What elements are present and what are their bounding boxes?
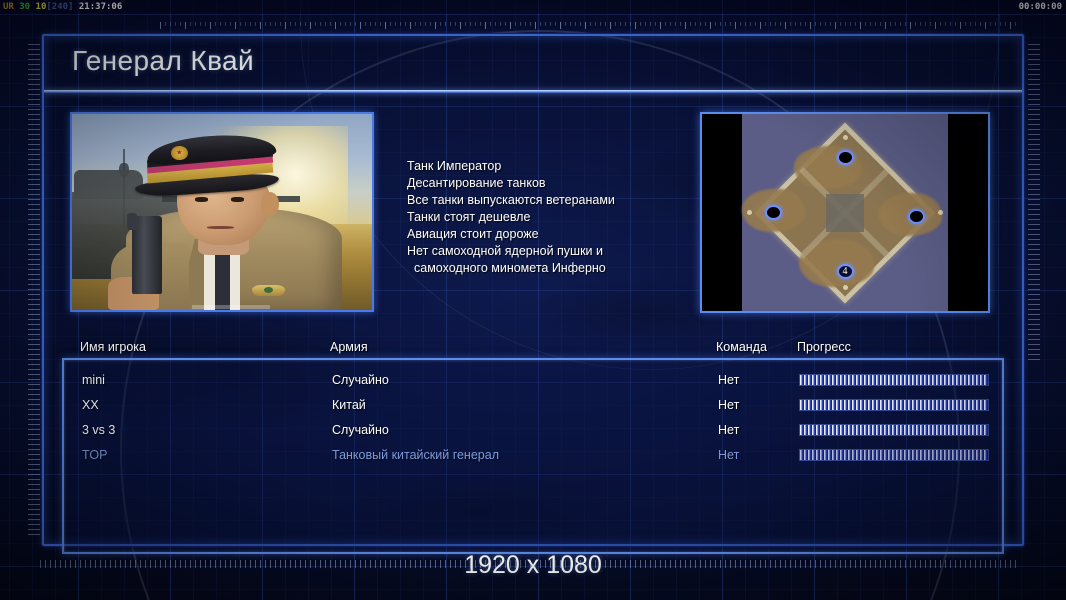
general-portrait — [70, 112, 374, 312]
overlay-timer: 00:00:00 — [1019, 1, 1062, 13]
overlay-status-bar: UR 30 10[240] 21:37:06 00:00:00 — [0, 0, 1066, 14]
ability-line: Танк Император — [407, 158, 697, 175]
cell-team[interactable]: Нет — [718, 443, 739, 468]
cap-star-icon — [171, 146, 188, 160]
cell-player-name: TOP — [82, 443, 107, 468]
fps-prefix: UR — [3, 2, 14, 12]
ability-line: Десантирование танков — [407, 175, 697, 192]
resolution-label: 1920 x 1080 — [0, 551, 1066, 580]
map-start-position[interactable] — [908, 209, 925, 224]
general-info-panel: Танк Император Десантирование танков Все… — [62, 106, 1004, 332]
column-header-team: Команда — [716, 340, 767, 354]
ability-line: Нет самоходной ядерной пушки и — [407, 243, 697, 260]
game-lobby-screen: UR 30 10[240] 21:37:06 00:00:00 Генерал … — [0, 0, 1066, 600]
ability-line: Авиация стоит дороже — [407, 226, 697, 243]
portrait-artwork — [72, 114, 372, 310]
cell-army[interactable]: Китай — [332, 393, 366, 418]
title-divider — [44, 90, 1022, 93]
cell-army[interactable]: Танковый китайский генерал — [332, 443, 499, 468]
table-row[interactable]: mini Случайно Нет — [64, 368, 1004, 393]
map-preview[interactable]: 4 — [700, 112, 990, 313]
column-header-progress: Прогресс — [797, 340, 851, 354]
cell-player-name: mini — [82, 368, 105, 393]
map-center-structure — [826, 194, 864, 232]
table-row[interactable]: 3 vs 3 Случайно Нет — [64, 418, 1004, 443]
player-table-header: Имя игрока Армия Команда Прогресс — [62, 340, 1004, 358]
cell-army[interactable]: Случайно — [332, 418, 389, 443]
table-row[interactable]: XX Китай Нет — [64, 393, 1004, 418]
page-title: Генерал Квай — [72, 45, 254, 77]
cell-team[interactable]: Нет — [718, 368, 739, 393]
ruler-right — [1028, 44, 1040, 364]
ruler-top — [160, 22, 1020, 29]
ruler-left — [28, 44, 40, 536]
column-header-army: Армия — [330, 340, 368, 354]
column-header-player-name: Имя игрока — [80, 340, 146, 354]
fps-frametime: 10 — [36, 2, 47, 12]
title-bar: Генерал Квай — [44, 36, 1022, 92]
cell-team[interactable]: Нет — [718, 418, 739, 443]
map-preview-image: 4 — [702, 114, 988, 311]
map-start-position-4[interactable]: 4 — [837, 264, 854, 279]
cell-player-name: XX — [82, 393, 99, 418]
portrait-medal-icon — [252, 285, 285, 297]
progress-bar — [799, 374, 989, 386]
progress-bar — [799, 399, 989, 411]
map-start-position[interactable] — [837, 150, 854, 165]
cell-team[interactable]: Нет — [718, 393, 739, 418]
ability-line: самоходного миномета Инферно — [407, 260, 697, 277]
fps-bracket-value: [240] — [46, 2, 73, 12]
cell-army[interactable]: Случайно — [332, 368, 389, 393]
ability-line: Все танки выпускаются ветеранами — [407, 192, 697, 209]
progress-bar — [799, 424, 989, 436]
general-abilities-list: Танк Император Десантирование танков Все… — [407, 158, 697, 277]
progress-bar — [799, 449, 989, 461]
cell-player-name: 3 vs 3 — [82, 418, 115, 443]
overlay-clock: 21:37:06 — [79, 2, 122, 12]
fps-overlay: UR 30 10[240] 21:37:06 — [3, 1, 122, 13]
portrait-pistol-icon — [132, 216, 162, 294]
fps-value: 30 — [19, 2, 30, 12]
map-start-position[interactable] — [765, 205, 782, 220]
ability-line: Танки стоят дешевле — [407, 209, 697, 226]
table-row[interactable]: TOP Танковый китайский генерал Нет — [64, 443, 1004, 468]
player-table: mini Случайно Нет XX Китай Нет 3 vs 3 Сл… — [62, 358, 1004, 554]
